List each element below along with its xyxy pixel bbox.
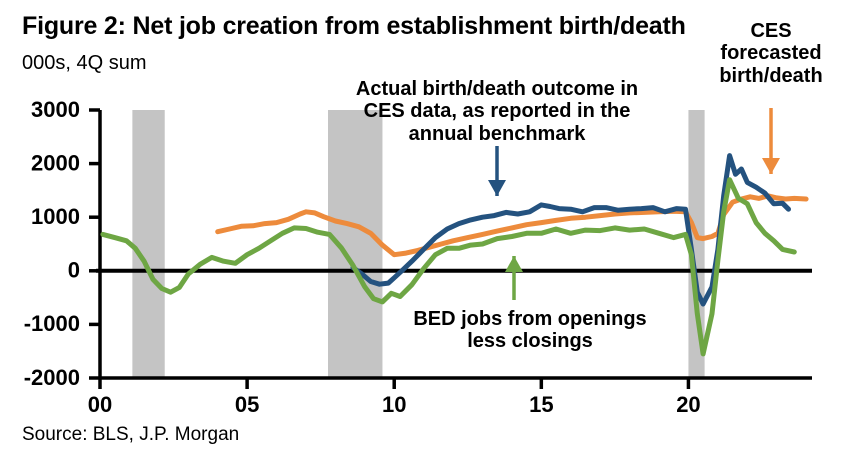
y-tick-label: 2000 <box>31 150 80 175</box>
recession-2001-band <box>132 110 164 378</box>
y-tick-label: 1000 <box>31 204 80 229</box>
annotation-ces-forecast: CES forecasted birth/death <box>706 20 836 87</box>
y-tick-label: 0 <box>68 258 80 283</box>
annotation-ces-actual: Actual birth/death outcome in CES data, … <box>352 78 642 145</box>
y-tick-label: -1000 <box>24 311 80 336</box>
ces-actual-arrow-head <box>488 180 506 196</box>
x-tick-label: 15 <box>529 392 553 417</box>
x-tick-label: 10 <box>382 392 406 417</box>
x-tick-label: 05 <box>235 392 259 417</box>
x-tick-label: 20 <box>676 392 700 417</box>
x-tick-label: 00 <box>88 392 112 417</box>
bed-arrow-head <box>505 256 523 272</box>
figure-container: Figure 2: Net job creation from establis… <box>0 0 852 459</box>
y-tick-label: 3000 <box>31 97 80 122</box>
ces-forecast-arrow-head <box>762 158 780 174</box>
y-tick-label: -2000 <box>24 365 80 390</box>
annotation-bed: BED jobs from openings less closings <box>410 308 650 353</box>
